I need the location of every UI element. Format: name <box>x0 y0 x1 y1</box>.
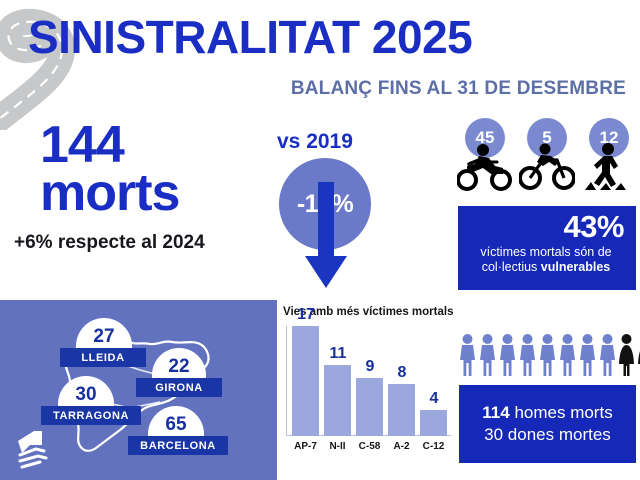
bar-chart: 17 AP-7 11 N-II 9 C-58 8 A-2 4 C-12 <box>286 326 451 454</box>
bar-4 <box>420 410 447 436</box>
vulnerable-percent-panel: 43% víctimes mortals són de col·lectius … <box>458 206 636 290</box>
servei-catala-transit-logo-icon <box>12 425 52 470</box>
vulnerable-percent-value: 43% <box>468 211 624 244</box>
bar-value-4: 4 <box>417 390 451 408</box>
male-figure-icon <box>559 333 576 377</box>
bar-value-2: 9 <box>353 358 387 376</box>
male-figure-icon <box>479 333 496 377</box>
motorcycle-icon <box>457 142 513 192</box>
male-figure-icon <box>539 333 556 377</box>
vulnerable-item-cyclists: 5 <box>519 118 575 198</box>
female-figure-icon <box>618 333 635 377</box>
vulnerable-users-group: 45 5 <box>457 118 637 203</box>
page-title: SINISTRALITAT 2025 <box>28 14 472 60</box>
male-figure-icon <box>519 333 536 377</box>
bar-2 <box>356 378 383 436</box>
deaths-label: morts <box>40 168 179 219</box>
male-figure-icon <box>579 333 596 377</box>
vs-2019-label: vs 2019 <box>277 130 353 154</box>
map-region-tarragona-label: TARRAGONA <box>41 406 141 425</box>
male-deaths-label: homes morts <box>510 403 613 422</box>
down-arrow-icon <box>305 182 347 290</box>
female-deaths-line: 30 dones mortes <box>484 424 611 446</box>
bar-1 <box>324 365 351 436</box>
male-figure-icon <box>499 333 516 377</box>
vulnerable-caption-line1: víctimes mortals són de <box>480 245 611 259</box>
vulnerable-caption-line2-normal: col·lectius <box>482 260 541 274</box>
vulnerable-percent-caption: víctimes mortals són de col·lectius vuln… <box>468 245 624 276</box>
year-comparison-text: +6% respecte al 2024 <box>14 232 205 254</box>
bar-0 <box>292 326 319 436</box>
vulnerable-item-pedestrians: 12 <box>581 118 637 198</box>
vulnerable-item-motorcyclists: 45 <box>457 118 513 198</box>
chart-y-axis <box>286 326 287 436</box>
map-region-lleida-label: LLEIDA <box>60 348 146 367</box>
bicycle-icon <box>519 142 575 192</box>
male-deaths-count: 114 <box>482 403 509 422</box>
pedestrian-crosswalk-icon <box>581 142 637 192</box>
map-region-girona-label: GIRONA <box>136 378 222 397</box>
male-deaths-line: 114 homes morts <box>482 402 612 424</box>
bar-value-0: 17 <box>289 306 323 324</box>
gender-stats-panel: 114 homes morts 30 dones mortes <box>459 385 636 463</box>
page-subtitle: BALANÇ FINS AL 31 DE DESEMBRE <box>291 78 626 100</box>
infographic-page: SINISTRALITAT 2025 BALANÇ FINS AL 31 DE … <box>0 0 640 480</box>
male-figure-icon <box>599 333 616 377</box>
bar-3 <box>388 384 415 436</box>
gender-figures-row <box>459 333 637 377</box>
bar-value-1: 11 <box>321 345 355 363</box>
male-figure-icon <box>459 333 476 377</box>
vulnerable-caption-line2-bold: vulnerables <box>541 260 610 274</box>
bar-value-3: 8 <box>385 364 419 382</box>
map-region-barcelona-label: BARCELONA <box>128 436 228 455</box>
bar-category-4: C-12 <box>415 441 452 452</box>
